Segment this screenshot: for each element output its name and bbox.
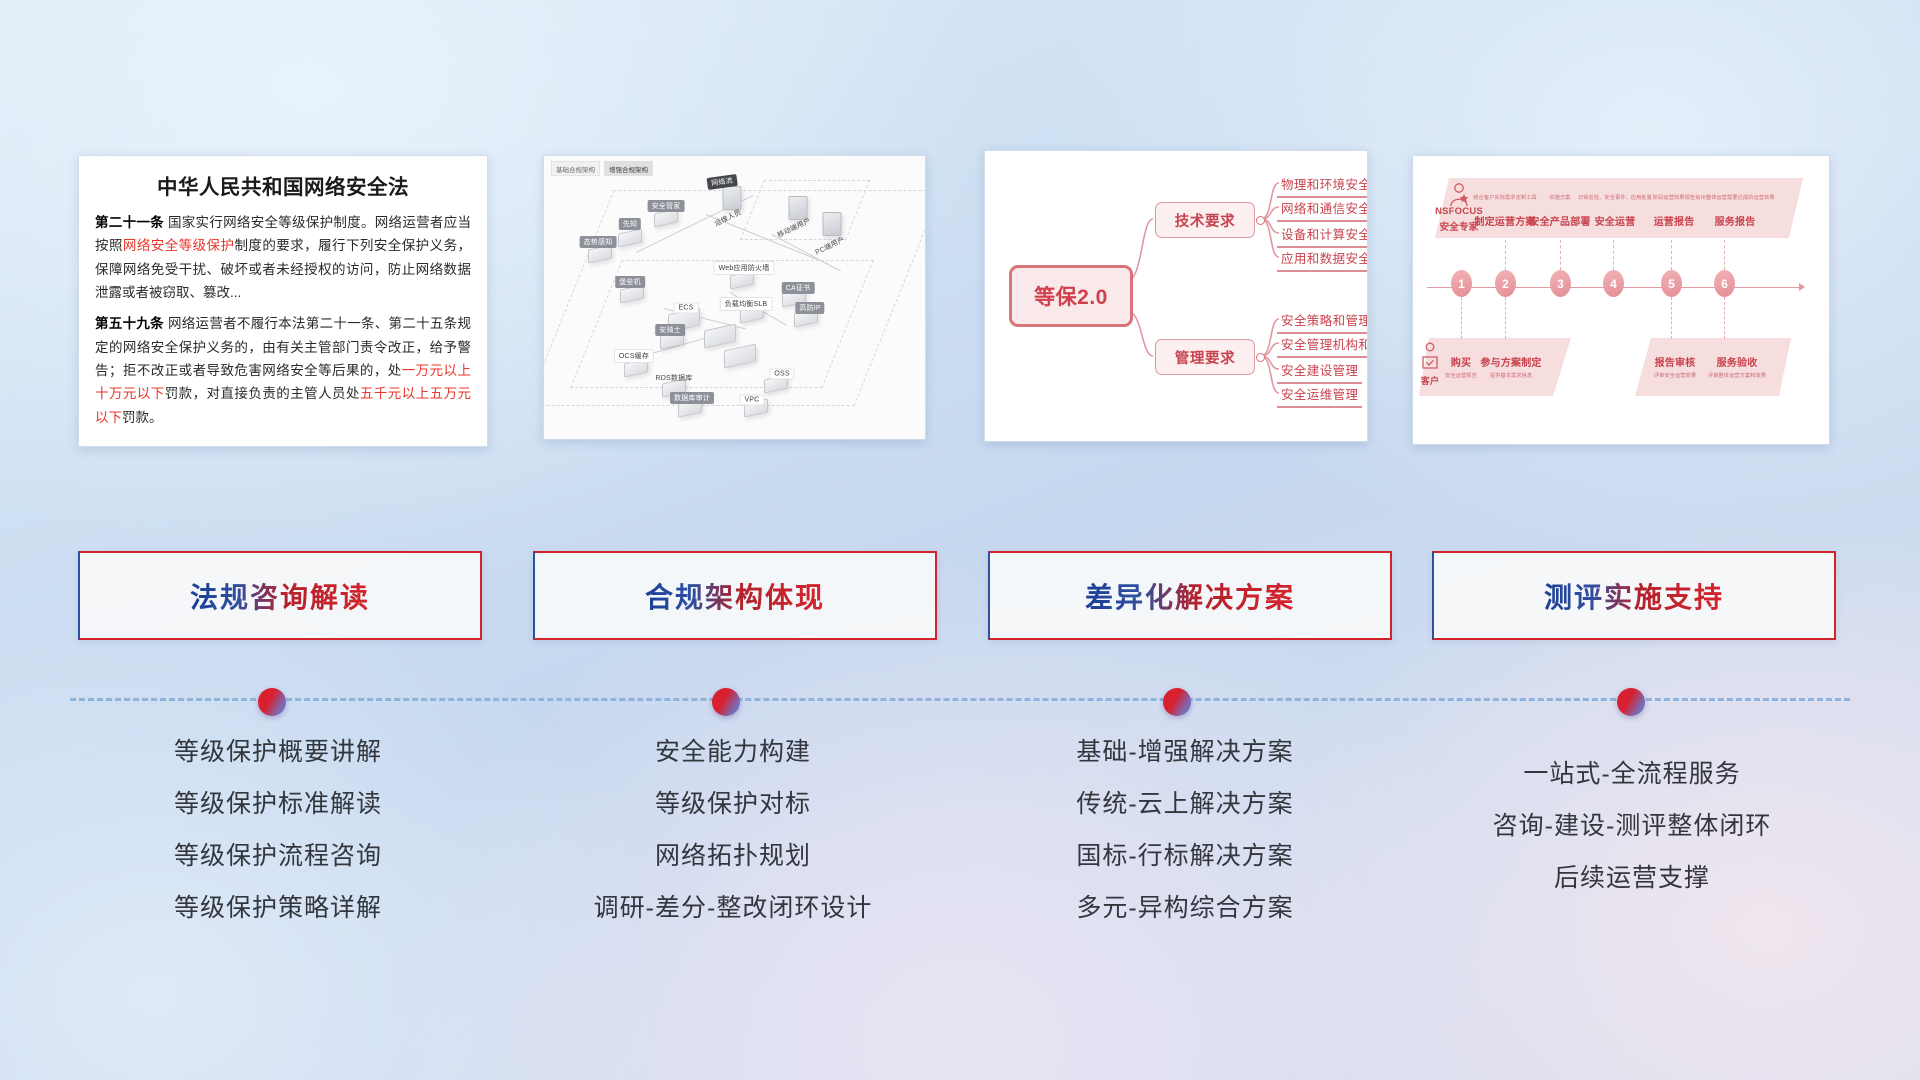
track-bullet-3[interactable] xyxy=(1163,688,1191,716)
heading-label: 合规架构体现 xyxy=(645,576,825,616)
list-item: 等级保护策略详解 xyxy=(75,896,481,921)
poster-root: 中华人民共和国网络安全法 第二十一条 国家实行网络安全等级保护制度。网络运营者应… xyxy=(0,0,1920,1080)
detail-list-compliance-architecture: 安全能力构建 等级保护对标 网络拓扑规划 调研-差分-整改闭环设计 xyxy=(530,740,936,948)
heading-box-compliance-architecture[interactable]: 合规架构体现 xyxy=(533,551,937,640)
list-item: 国标-行标解决方案 xyxy=(982,844,1388,869)
heading-box-regulation-consulting[interactable]: 法规咨询解读 xyxy=(78,551,482,640)
heading-label: 测评实施支持 xyxy=(1544,576,1724,616)
progress-track xyxy=(70,698,1850,701)
list-item: 后续运营支撑 xyxy=(1429,866,1835,891)
list-item: 传统-云上解决方案 xyxy=(982,792,1388,817)
heading-box-assessment-support[interactable]: 测评实施支持 xyxy=(1432,551,1836,640)
heading-box-differentiated-solution[interactable]: 差异化解决方案 xyxy=(988,551,1392,640)
list-item: 安全能力构建 xyxy=(530,740,936,765)
track-bullet-1[interactable] xyxy=(258,688,286,716)
list-item: 等级保护标准解读 xyxy=(75,792,481,817)
list-item: 基础-增强解决方案 xyxy=(982,740,1388,765)
detail-list-assessment-support: 一站式-全流程服务 咨询-建设-测评整体闭环 后续运营支撑 xyxy=(1429,762,1835,918)
progress-track-line xyxy=(70,698,1850,701)
list-item: 等级保护流程咨询 xyxy=(75,844,481,869)
heading-label: 差异化解决方案 xyxy=(1085,576,1295,616)
list-item: 等级保护概要讲解 xyxy=(75,740,481,765)
list-item: 咨询-建设-测评整体闭环 xyxy=(1429,814,1835,839)
track-bullet-4[interactable] xyxy=(1617,688,1645,716)
detail-list-regulation-consulting: 等级保护概要讲解 等级保护标准解读 等级保护流程咨询 等级保护策略详解 xyxy=(75,740,481,948)
track-bullet-2[interactable] xyxy=(712,688,740,716)
list-item: 等级保护对标 xyxy=(530,792,936,817)
list-item: 调研-差分-整改闭环设计 xyxy=(530,896,936,921)
list-item: 一站式-全流程服务 xyxy=(1429,762,1835,787)
list-item: 网络拓扑规划 xyxy=(530,844,936,869)
list-item: 多元-异构综合方案 xyxy=(982,896,1388,921)
heading-label: 法规咨询解读 xyxy=(190,576,370,616)
detail-list-differentiated-solution: 基础-增强解决方案 传统-云上解决方案 国标-行标解决方案 多元-异构综合方案 xyxy=(982,740,1388,948)
